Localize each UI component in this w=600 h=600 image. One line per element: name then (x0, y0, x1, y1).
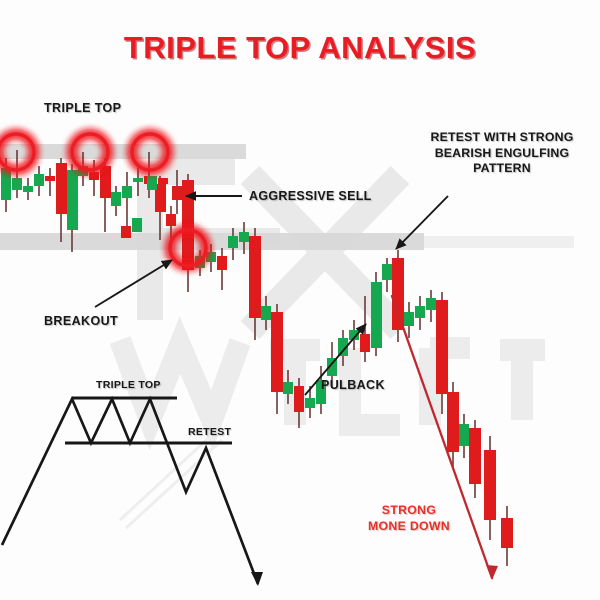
trading-chart-infographic: TRIPLE TOP ANALYSIS (0, 0, 600, 600)
triple-top-schematic (0, 0, 600, 600)
schematic-path-arrowhead (251, 572, 263, 586)
label-schematic-triple-top: TRIPLE TOP (96, 379, 161, 392)
label-schematic-retest: RETEST (188, 426, 231, 439)
